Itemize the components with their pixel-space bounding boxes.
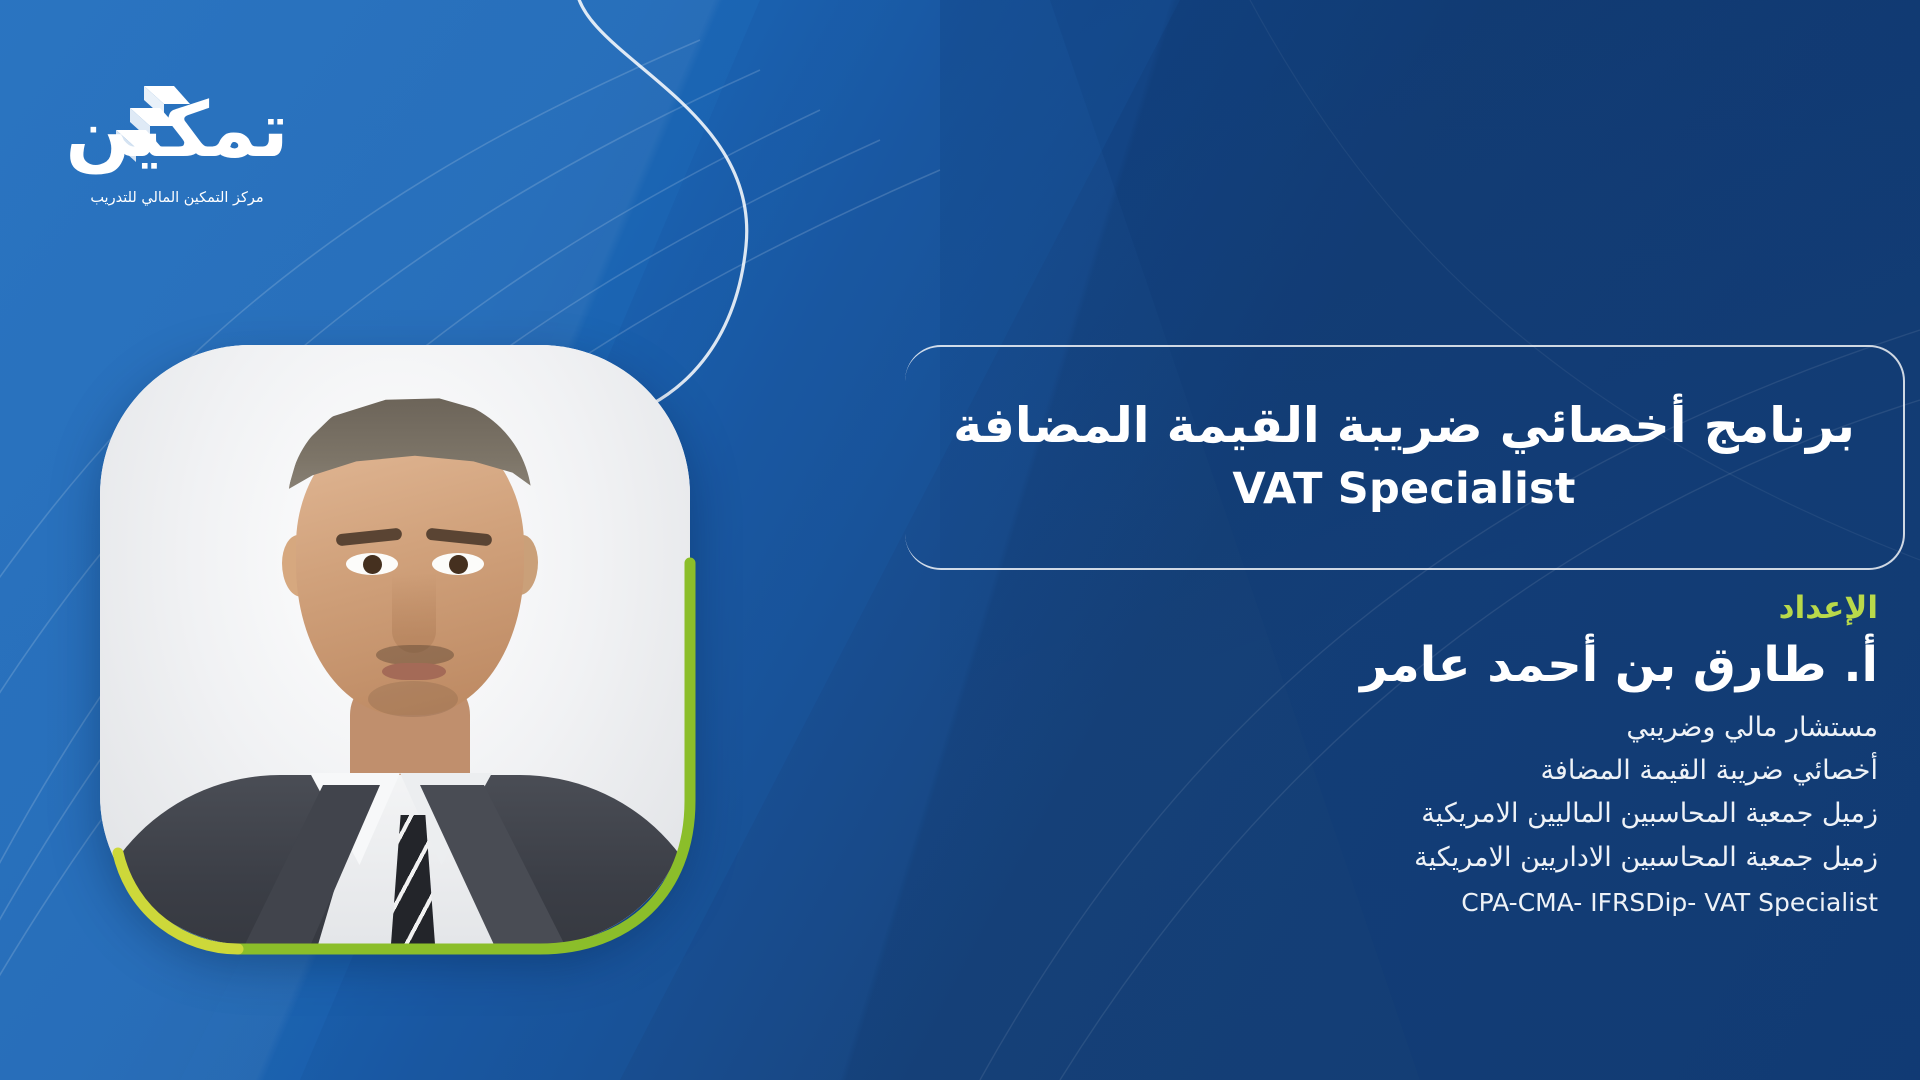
slide-root: تمكين مركز التمكين المالي للتدريب — [0, 0, 1920, 1080]
credential-line: زميل جمعية المحاسبين الماليين الامريكية — [938, 792, 1878, 835]
presenter-portrait — [100, 345, 720, 965]
presenter-info-block: الإعداد أ. طارق بن أحمد عامر مستشار مالي… — [938, 590, 1878, 923]
brand-logo[interactable]: تمكين مركز التمكين المالي للتدريب — [52, 40, 302, 220]
certifications-english: CPA-CMA- IFRSDip- VAT Specialist — [938, 883, 1878, 923]
portrait-green-accent-arc — [88, 333, 708, 963]
logo-wordmark: تمكين — [52, 92, 302, 168]
credential-line: زميل جمعية المحاسبين الاداريين الامريكية — [938, 836, 1878, 879]
credential-line: مستشار مالي وضريبي — [938, 706, 1878, 749]
prepared-by-label: الإعداد — [938, 590, 1878, 627]
logo-subtitle: مركز التمكين المالي للتدريب — [52, 190, 302, 206]
program-title-box: برنامج أخصائي ضريبة القيمة المضافة VAT S… — [905, 345, 1905, 570]
program-title-english: VAT Specialist — [1232, 464, 1575, 514]
presenter-name: أ. طارق بن أحمد عامر — [938, 633, 1878, 698]
credential-line: أخصائي ضريبة القيمة المضافة — [938, 749, 1878, 792]
program-title-arabic: برنامج أخصائي ضريبة القيمة المضافة — [953, 395, 1855, 456]
